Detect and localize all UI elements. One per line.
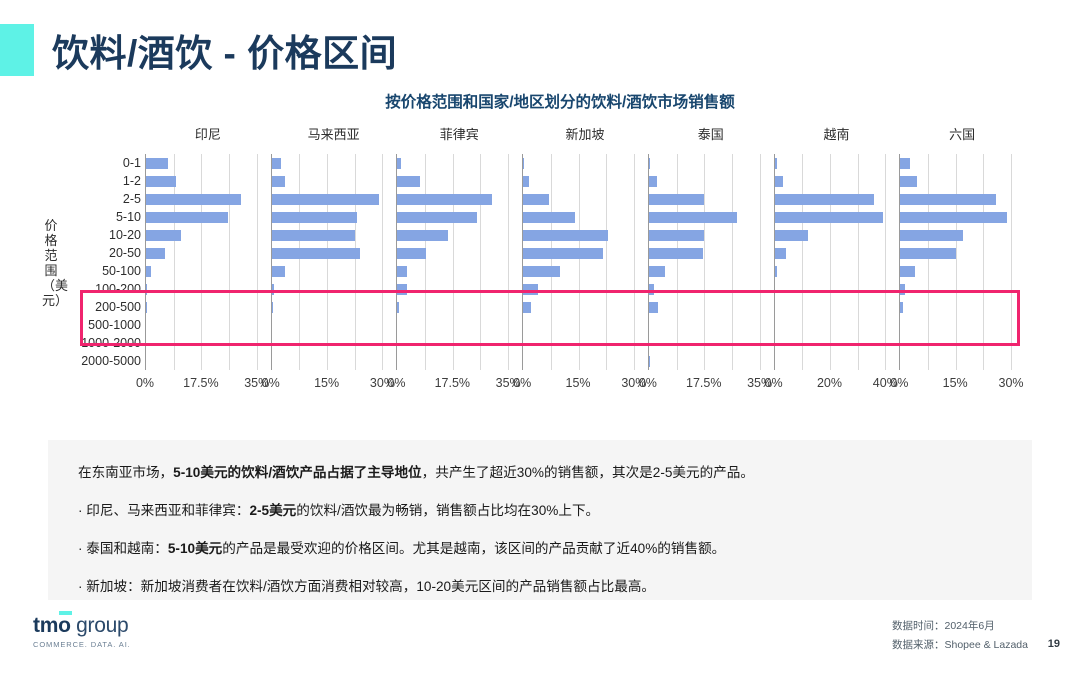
bar — [146, 176, 176, 187]
bar-row — [649, 316, 760, 334]
bar-row — [397, 154, 508, 172]
bar — [397, 302, 399, 313]
panel-title: 六国 — [899, 126, 1025, 144]
bar-group — [900, 154, 1011, 370]
bar-row — [649, 208, 760, 226]
bar-row — [775, 208, 886, 226]
bar — [272, 284, 274, 295]
bar — [900, 194, 996, 205]
bar-row — [649, 154, 760, 172]
bar-row — [146, 244, 257, 262]
bar-row — [523, 316, 634, 334]
bar-row — [272, 334, 383, 352]
x-axis-ticks: 0%15%30% — [522, 376, 634, 396]
y-axis-label: 2000-5000 — [55, 352, 141, 370]
bar — [272, 194, 379, 205]
bar-row — [272, 172, 383, 190]
bar — [523, 194, 549, 205]
bar-row — [900, 172, 1011, 190]
bar-group — [146, 154, 257, 370]
bar-row — [397, 280, 508, 298]
bar-row — [272, 154, 383, 172]
bar-row — [649, 352, 760, 370]
bar — [775, 194, 875, 205]
x-axis-ticks: 0%15%30% — [899, 376, 1011, 396]
data-source: 数据来源：Shopee & Lazada — [892, 636, 1028, 655]
bar — [523, 176, 529, 187]
panel-plot — [145, 154, 257, 370]
bar — [523, 266, 560, 277]
bar-row — [775, 280, 886, 298]
bar-group — [649, 154, 760, 370]
x-axis-ticks: 0%20%40% — [774, 376, 886, 396]
bar — [649, 266, 665, 277]
chart-panel: 六国0%15%30% — [899, 126, 1025, 396]
bar-row — [397, 262, 508, 280]
bar-row — [649, 244, 760, 262]
y-axis-label: 5-10 — [55, 208, 141, 226]
bar-row — [775, 298, 886, 316]
bar — [397, 212, 476, 223]
logo-suffix: group — [71, 614, 129, 637]
bar-row — [900, 262, 1011, 280]
x-axis-tick-label: 17.5% — [435, 376, 470, 390]
bar — [649, 158, 651, 169]
bar-group — [397, 154, 508, 370]
chart-panel: 越南0%20%40% — [774, 126, 900, 396]
x-axis-tick-label: 17.5% — [686, 376, 721, 390]
panel-plot — [522, 154, 634, 370]
bar-row — [146, 154, 257, 172]
bar — [775, 176, 783, 187]
bar — [523, 248, 602, 259]
bar-row — [146, 298, 257, 316]
bar-row — [146, 352, 257, 370]
bar-row — [272, 262, 383, 280]
bar-row — [900, 190, 1011, 208]
bar — [649, 302, 658, 313]
bar-row — [146, 226, 257, 244]
y-axis-label: 50-100 — [55, 262, 141, 280]
bar-row — [146, 190, 257, 208]
bar — [649, 248, 703, 259]
bar-row — [649, 226, 760, 244]
bar — [900, 230, 963, 241]
bar — [900, 158, 909, 169]
bar-row — [397, 352, 508, 370]
panel-plot — [774, 154, 886, 370]
bar-row — [146, 334, 257, 352]
panel-plot — [271, 154, 383, 370]
bar-row — [649, 280, 760, 298]
bar-row — [272, 280, 383, 298]
bar — [397, 158, 400, 169]
bar-row — [900, 226, 1011, 244]
data-time: 数据时间：2024年6月 — [892, 617, 1028, 636]
gridline — [257, 154, 258, 370]
bar-row — [775, 154, 886, 172]
insights-box: 在东南亚市场，5-10美元的饮料/酒饮产品占据了主导地位，共产生了超近30%的销… — [48, 440, 1032, 600]
bar-row — [272, 316, 383, 334]
chart-container: 按价格范围和国家/地区划分的饮料/酒饮市场销售额 价格范围（美元） 0-11-2… — [0, 90, 1080, 430]
bar — [146, 302, 147, 313]
bar-row — [900, 352, 1011, 370]
bar — [649, 212, 738, 223]
x-axis-tick-label: 0% — [262, 376, 280, 390]
bar-row — [272, 244, 383, 262]
bar-row — [397, 298, 508, 316]
x-axis-tick-label: 20% — [817, 376, 842, 390]
gridline — [1011, 154, 1012, 370]
y-axis-label: 2-5 — [55, 190, 141, 208]
bar-row — [272, 226, 383, 244]
bar-row — [649, 190, 760, 208]
bar-row — [397, 244, 508, 262]
bar-row — [775, 316, 886, 334]
bar — [523, 302, 530, 313]
bar — [272, 266, 285, 277]
bar-row — [523, 280, 634, 298]
bar — [397, 284, 406, 295]
bar — [523, 158, 524, 169]
page-number: 19 — [1048, 638, 1060, 650]
bar-row — [146, 208, 257, 226]
bar — [900, 176, 917, 187]
bar — [146, 230, 181, 241]
bar-row — [775, 172, 886, 190]
bar-row — [523, 208, 634, 226]
bar — [900, 302, 903, 313]
bar-row — [523, 334, 634, 352]
x-axis-tick-label: 0% — [890, 376, 908, 390]
bar — [397, 194, 492, 205]
y-axis-label: 200-500 — [55, 298, 141, 316]
x-axis-tick-label: 0% — [136, 376, 154, 390]
logo-overbar-icon — [59, 611, 72, 615]
bar-row — [397, 226, 508, 244]
bar — [649, 284, 654, 295]
bar — [775, 212, 883, 223]
bar-row — [649, 262, 760, 280]
chart-panel: 印尼0%17.5%35% — [145, 126, 271, 396]
insight-line: 在东南亚市场，5-10美元的饮料/酒饮产品占据了主导地位，共产生了超近30%的销… — [78, 462, 1002, 483]
bar — [272, 176, 285, 187]
page-title: 饮料/酒饮 - 价格区间 — [52, 23, 397, 77]
x-axis-tick-label: 0% — [765, 376, 783, 390]
gridline — [382, 154, 383, 370]
bar-row — [146, 172, 257, 190]
x-axis-tick-label: 0% — [387, 376, 405, 390]
bar — [775, 158, 778, 169]
chart-panels: 印尼0%17.5%35%马来西亚0%15%30%菲律宾0%17.5%35%新加坡… — [145, 126, 1025, 396]
bar — [397, 176, 419, 187]
panel-plot — [648, 154, 760, 370]
bar-row — [397, 190, 508, 208]
panel-title: 新加坡 — [522, 126, 648, 144]
y-axis-label: 1000-2000 — [55, 334, 141, 352]
bar-row — [272, 190, 383, 208]
bar — [272, 212, 357, 223]
chart-panel: 新加坡0%15%30% — [522, 126, 648, 396]
bar-row — [397, 172, 508, 190]
bar — [146, 212, 228, 223]
y-axis-label: 100-200 — [55, 280, 141, 298]
bar-row — [523, 244, 634, 262]
bar-row — [523, 190, 634, 208]
logo-tagline: COMMERCE. DATA. AI. — [33, 640, 131, 649]
x-axis-tick-label: 0% — [513, 376, 531, 390]
panel-title: 印尼 — [145, 126, 271, 144]
bar-row — [146, 280, 257, 298]
bar-row — [775, 262, 886, 280]
bar — [397, 230, 448, 241]
bar-row — [523, 154, 634, 172]
bar-row — [775, 352, 886, 370]
bar-row — [272, 298, 383, 316]
footer-meta: 数据时间：2024年6月 数据来源：Shopee & Lazada — [892, 617, 1028, 655]
slide-header: 饮料/酒饮 - 价格区间 — [0, 22, 397, 78]
bar-group — [523, 154, 634, 370]
bar-row — [146, 316, 257, 334]
bar — [146, 248, 165, 259]
gridline — [508, 154, 509, 370]
y-axis-label: 0-1 — [55, 154, 141, 172]
bar — [649, 194, 704, 205]
x-axis-ticks: 0%17.5%35% — [145, 376, 257, 396]
bar — [649, 176, 657, 187]
y-axis-labels: 0-11-22-55-1010-2020-5050-100100-200200-… — [55, 154, 141, 370]
bar — [523, 212, 575, 223]
bar-row — [900, 244, 1011, 262]
bar-group — [272, 154, 383, 370]
bar — [649, 230, 704, 241]
bar-row — [775, 244, 886, 262]
panel-title: 马来西亚 — [271, 126, 397, 144]
bar — [272, 158, 281, 169]
logo-wordmark: tmo group — [33, 614, 128, 638]
x-axis-tick-label: 15% — [943, 376, 968, 390]
y-axis-label: 10-20 — [55, 226, 141, 244]
panel-plot — [396, 154, 508, 370]
insight-line: · 新加坡：新加坡消费者在饮料/酒饮方面消费相对较高，10-20美元区间的产品销… — [78, 576, 1002, 597]
bar-row — [900, 208, 1011, 226]
bar-row — [900, 154, 1011, 172]
bar-row — [775, 334, 886, 352]
bar-group — [775, 154, 886, 370]
bar — [272, 230, 355, 241]
bar — [523, 284, 538, 295]
y-axis-label: 20-50 — [55, 244, 141, 262]
panel-title: 越南 — [774, 126, 900, 144]
bar — [397, 266, 406, 277]
bar — [775, 248, 786, 259]
chart-panel: 泰国0%17.5%35% — [648, 126, 774, 396]
bar — [523, 230, 608, 241]
bar-row — [146, 262, 257, 280]
bar — [900, 284, 904, 295]
x-axis-tick-label: 17.5% — [183, 376, 218, 390]
bar-row — [900, 280, 1011, 298]
logo: tmo group COMMERCE. DATA. AI. — [33, 614, 131, 649]
bar-row — [397, 334, 508, 352]
bar — [146, 158, 168, 169]
bar — [900, 248, 955, 259]
panel-title: 菲律宾 — [396, 126, 522, 144]
y-axis-label: 1-2 — [55, 172, 141, 190]
insight-line: · 泰国和越南：5-10美元的产品是最受欢迎的价格区间。尤其是越南，该区间的产品… — [78, 538, 1002, 559]
x-axis-tick-label: 0% — [639, 376, 657, 390]
bar-row — [649, 298, 760, 316]
bar-row — [649, 334, 760, 352]
bar — [146, 194, 241, 205]
bar-row — [900, 316, 1011, 334]
x-axis-tick-label: 15% — [314, 376, 339, 390]
chart-panel: 菲律宾0%17.5%35% — [396, 126, 522, 396]
x-axis-tick-label: 15% — [566, 376, 591, 390]
panel-title: 泰国 — [648, 126, 774, 144]
x-axis-ticks: 0%17.5%35% — [396, 376, 508, 396]
bar-row — [649, 172, 760, 190]
y-axis-label: 500-1000 — [55, 316, 141, 334]
gridline — [634, 154, 635, 370]
x-axis-ticks: 0%15%30% — [271, 376, 383, 396]
bar-row — [900, 298, 1011, 316]
chart-title: 按价格范围和国家/地区划分的饮料/酒饮市场销售额 — [0, 90, 1080, 112]
x-axis-ticks: 0%17.5%35% — [648, 376, 760, 396]
gridline — [760, 154, 761, 370]
bar — [397, 248, 425, 259]
bar-row — [775, 226, 886, 244]
bar — [775, 230, 808, 241]
bar-row — [272, 352, 383, 370]
bar — [649, 356, 650, 367]
x-axis-tick-label: 30% — [999, 376, 1024, 390]
bar-row — [523, 262, 634, 280]
bar — [272, 248, 361, 259]
bar-row — [272, 208, 383, 226]
bar-row — [775, 190, 886, 208]
bar-row — [397, 208, 508, 226]
bar-row — [523, 298, 634, 316]
bar — [900, 212, 1007, 223]
bar-row — [900, 334, 1011, 352]
insight-line: · 印尼、马来西亚和菲律宾：2-5美元的饮料/酒饮最为畅销，销售额占比均在30%… — [78, 500, 1002, 521]
bar-row — [523, 172, 634, 190]
bar — [146, 284, 147, 295]
chart-panel: 马来西亚0%15%30% — [271, 126, 397, 396]
bar — [775, 266, 777, 277]
bar — [900, 266, 915, 277]
bar-row — [523, 352, 634, 370]
accent-bar — [0, 24, 34, 76]
gridline — [885, 154, 886, 370]
bar — [146, 266, 151, 277]
bar-row — [523, 226, 634, 244]
bar-row — [397, 316, 508, 334]
logo-text: tmo — [33, 614, 71, 637]
panel-plot — [899, 154, 1011, 370]
bar — [272, 302, 273, 313]
